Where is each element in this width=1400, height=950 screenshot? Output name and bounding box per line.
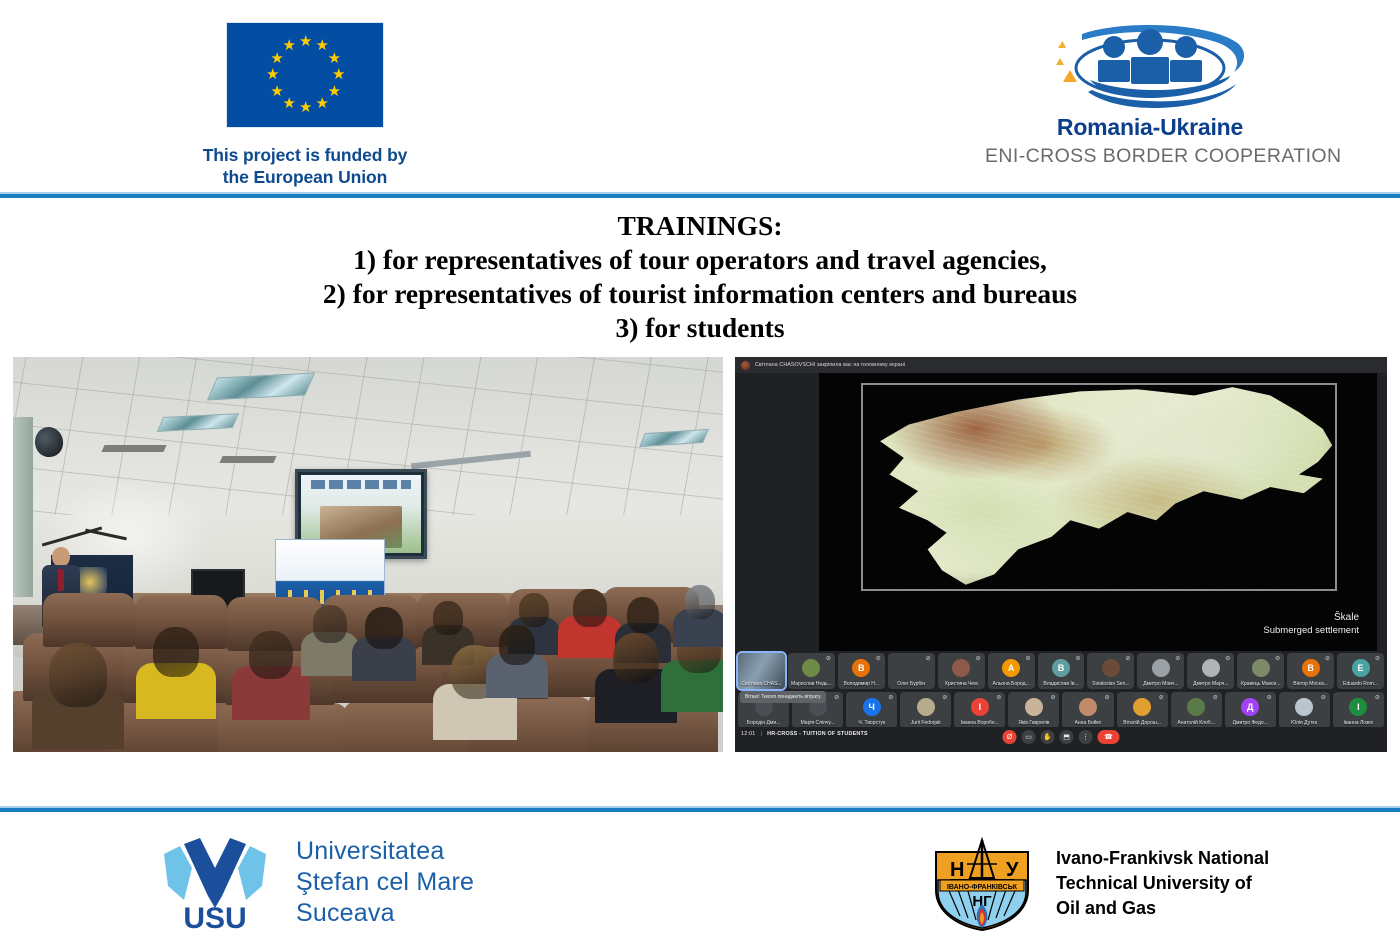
ifntuog-logo: Н У ІВАНО-ФРАНКІВСЬК НГ [930, 834, 1034, 932]
audience-member [499, 625, 561, 709]
eu-funding-block: This project is funded by the European U… [140, 22, 470, 188]
participant-row-2: ⊘Бородін Дми...⊘Марія Сліпчу...Ч⊘Ч. Твор… [738, 692, 1384, 728]
participant-tile[interactable]: І⊘Іванна Лозко [1333, 692, 1384, 728]
camera-icon: ▭ [1025, 733, 1032, 741]
status-separator: | [761, 731, 763, 737]
participant-tile[interactable]: ⊘Юлія Дутка [1279, 692, 1330, 728]
pinned-notice-text: Світлана CHASOVSCHI закріпила вас на гол… [755, 362, 905, 368]
participant-tile[interactable]: ⊘Дмитро Мовч... [1137, 653, 1184, 689]
participant-name: Олег Бурбін [897, 681, 925, 689]
participant-initial-avatar: Ч [863, 698, 881, 716]
media-row: Світлана CHASOVSCHI закріпила вас на гол… [0, 357, 1400, 754]
participant-name: Дмитро Марч... [1193, 681, 1228, 689]
microphone-muted-icon: ⊘ [887, 695, 894, 702]
participant-photo-avatar [1252, 659, 1270, 677]
terrain-caption-subtitle: Submerged settlement [1263, 624, 1359, 637]
participant-tile[interactable]: ⊘Sviatoslav Sen... [1087, 653, 1134, 689]
participant-tile[interactable]: А⊘Альона Бород... [988, 653, 1035, 689]
usu-logo: USU [160, 834, 270, 930]
ifntuog-name-line-3: Oil and Gas [1056, 896, 1269, 921]
slide-title-block: TRAININGS: 1) for representatives of tou… [0, 198, 1400, 351]
audience-member-head [49, 643, 107, 707]
end-call-icon: ☎ [1104, 733, 1113, 741]
microphone-muted-icon: ⊘ [1374, 695, 1381, 702]
microphone-muted-icon: ⊘ [1324, 656, 1331, 663]
participant-tile[interactable]: ⊘Марослав Недь... [788, 653, 835, 689]
audience-member-head [153, 627, 199, 677]
participant-initial-avatar: В [852, 659, 870, 677]
audience-member [685, 585, 723, 657]
microphone-muted-icon: ⊘ [1212, 695, 1219, 702]
participant-photo-avatar [1102, 659, 1120, 677]
participant-name: Володимир Н... [844, 681, 880, 689]
title-line-1: TRAININGS: [0, 209, 1400, 243]
participant-initial-avatar: В [1052, 659, 1070, 677]
partner-logo-ifntuog: Н У ІВАНО-ФРАНКІВСЬК НГ Ivano-Frankivsk … [930, 834, 1269, 932]
participant-tile[interactable]: ⊘Дмитро Марч... [1187, 653, 1234, 689]
participant-tile[interactable]: В⊘Володимир Н... [838, 653, 885, 689]
participant-name: Альона Бород... [992, 681, 1029, 689]
microphone-muted-icon: ⊘ [925, 656, 932, 663]
audience-seating [13, 571, 723, 752]
audience-member-head [249, 631, 293, 679]
lecture-hall-photo [13, 357, 723, 752]
usu-name-line-3: Suceava [296, 898, 474, 929]
programme-logo-block: Romania-Ukraine ENI-CROSS BORDER COOPERA… [985, 20, 1315, 168]
audience-member-head [313, 605, 347, 643]
chat-tooltip: Вітаю! Тихого понадають вітрату [740, 691, 826, 703]
ifntuog-name: Ivano-Frankivsk National Technical Unive… [1056, 846, 1269, 921]
usu-logo-svg: USU [160, 834, 270, 930]
participant-tile[interactable]: E⊘Eduardo Rom... [1337, 653, 1384, 689]
raise-hand-icon: ✋ [1043, 733, 1052, 741]
meet-control-bar[interactable]: Ø▭✋⬒⋮☎ [1003, 730, 1120, 744]
participant-tile[interactable]: ⊘Христина Чем [938, 653, 985, 689]
presenter-head [52, 547, 70, 567]
participant-photo-avatar [1152, 659, 1170, 677]
participant-initial-avatar: А [1002, 659, 1020, 677]
microphone-muted-icon: ⊘ [1158, 695, 1165, 702]
participant-name: Віктор Моска... [1293, 681, 1328, 689]
participant-tile[interactable]: ⊘Jurii Fedorjak [900, 692, 951, 728]
title-line-4: 3) for students [0, 311, 1400, 345]
end-call-button[interactable]: ☎ [1098, 730, 1120, 744]
participant-initial-avatar: В [1302, 659, 1320, 677]
microphone-muted-icon: ⊘ [1025, 656, 1032, 663]
participant-photo-avatar [1295, 698, 1313, 716]
participant-name: Eduardo Rom... [1343, 681, 1378, 689]
audience-member-head [519, 593, 549, 627]
participant-photo-avatar [1079, 698, 1097, 716]
microphone-muted-icon: ⊘ [1274, 656, 1281, 663]
participant-row-1: Світлана CHAS...⊘Марослав Недь...В⊘Волод… [738, 653, 1384, 689]
participant-photo-avatar [802, 659, 820, 677]
audience-member-head [613, 633, 659, 683]
google-meet-screenshot: Світлана CHASOVSCHI закріпила вас на гол… [735, 357, 1387, 752]
microphone-muted-icon: ⊘ [1266, 695, 1273, 702]
usu-name-line-2: Ştefan cel Mare [296, 867, 474, 898]
participant-name: Кравець Макси... [1241, 681, 1280, 689]
meet-stage: Škale Submerged settlement [735, 373, 1387, 651]
3d-terrain-relief-model [861, 383, 1337, 591]
microphone-muted-icon: ⊘ [1049, 695, 1056, 702]
usu-name: Universitatea Ştefan cel Mare Suceava [296, 836, 474, 929]
participant-photo-avatar [1202, 659, 1220, 677]
participant-tile[interactable]: В⊘Владислав Ів... [1038, 653, 1085, 689]
terrain-caption: Škale Submerged settlement [1263, 611, 1359, 637]
microphone-muted-icon: ⊘ [875, 656, 882, 663]
eu-funding-caption: This project is funded by the European U… [140, 144, 470, 188]
participant-tile[interactable]: ⊘Олег Бурбін [888, 653, 935, 689]
present-screen-icon: ⬒ [1063, 733, 1070, 741]
usu-acronym: USU [183, 902, 246, 930]
participant-tile[interactable]: Ч⊘Ч. Творстук [846, 692, 897, 728]
meeting-status: 12:01 | HR-CROSS - TUITION OF STUDENTS [741, 731, 868, 737]
audience-member-head [573, 589, 607, 627]
microphone-muted-icon: ⊘ [975, 656, 982, 663]
participant-tile[interactable]: Д⊘Дмитро Федо... [1225, 692, 1276, 728]
microphone-muted-icon: ⊘ [825, 656, 832, 663]
participant-initial-avatar: І [971, 698, 989, 716]
ceiling-vent [219, 456, 276, 463]
audience-member [153, 627, 233, 733]
eu-caption-line-2: the European Union [140, 166, 470, 188]
terrain-caption-title: Škale [1263, 611, 1359, 624]
audience-member [365, 607, 429, 693]
meeting-time: 12:01 [741, 731, 756, 737]
microphone-muted-icon: ⊘ [1074, 656, 1081, 663]
participant-tile[interactable]: ⊘Анна Бойко [1062, 692, 1113, 728]
participant-tile[interactable]: В⊘Віктор Моска... [1287, 653, 1334, 689]
ifntuog-name-line-2: Technical University of [1056, 871, 1269, 896]
title-line-2: 1) for representatives of tour operators… [0, 243, 1400, 277]
more-options-button[interactable]: ⋮ [1079, 730, 1093, 744]
title-line-3: 2) for representatives of tourist inform… [0, 277, 1400, 311]
romania-ukraine-cbc-emblem [1030, 20, 1270, 112]
microphone-muted-icon: ⊘ [995, 695, 1002, 702]
audience-member-head [365, 607, 403, 649]
cbc-emblem-svg [1030, 20, 1270, 112]
microphone-muted-icon: ⊘ [941, 695, 948, 702]
raise-hand-button[interactable]: ✋ [1041, 730, 1055, 744]
ifntuog-name-line-1: Ivano-Frankivsk National [1056, 846, 1269, 871]
participant-name: Владислав Ів... [1043, 681, 1078, 689]
participant-photo-avatar [952, 659, 970, 677]
participant-photo-avatar [917, 698, 935, 716]
page-footer: USU Universitatea Ştefan cel Mare Suceav… [0, 812, 1400, 950]
host-avatar [741, 361, 750, 370]
partner-logo-usu: USU Universitatea Ştefan cel Mare Suceav… [160, 834, 474, 930]
participant-tile[interactable]: Світлана CHAS... [738, 653, 785, 689]
participant-tile[interactable]: ⊘Яків Гаврилів [1008, 692, 1059, 728]
crest-letter-n: Н [950, 859, 964, 881]
participant-name: Sviatoslav Sen... [1092, 681, 1129, 689]
participant-name: Марослав Недь... [791, 681, 832, 689]
crest-city-name: ІВАНО-ФРАНКІВСЬК [947, 884, 1018, 891]
page-header: This project is funded by the European U… [0, 0, 1400, 192]
shared-screen-area: Škale Submerged settlement [819, 373, 1377, 651]
microphone-muted-icon: ⊘ [1224, 656, 1231, 663]
participant-initial-avatar: І [1349, 698, 1367, 716]
microphone-muted-icon: ⊘ [1374, 656, 1381, 663]
ceiling-vent [101, 445, 166, 452]
european-union-flag [226, 22, 384, 128]
programme-subtitle: ENI-CROSS BORDER COOPERATION [985, 145, 1315, 168]
participant-name: Дмитро Мовч... [1143, 681, 1178, 689]
participant-photo-avatar [1025, 698, 1043, 716]
audience-member-head [499, 625, 535, 665]
ifntuog-logo-svg: Н У ІВАНО-ФРАНКІВСЬК НГ [930, 834, 1034, 932]
crest-letter-u: У [1006, 859, 1019, 881]
audience-member-head [685, 585, 715, 619]
microphone-muted-icon: ⊘ [1320, 695, 1327, 702]
microphone-muted-icon: ⊘ [833, 695, 840, 702]
microphone-off-button[interactable]: Ø [1003, 730, 1017, 744]
microphone-muted-icon: ⊘ [1124, 656, 1131, 663]
participant-photo-avatar [1133, 698, 1151, 716]
eu-caption-line-1: This project is funded by [140, 144, 470, 166]
participant-photo-avatar [1187, 698, 1205, 716]
participant-initial-avatar: Д [1241, 698, 1259, 716]
participant-tile[interactable]: І⊘Іванна Воробе... [954, 692, 1005, 728]
meeting-title: HR-CROSS - TUITION OF STUDENTS [767, 731, 868, 737]
door-frame [13, 417, 33, 597]
meet-bottom-bar: 12:01 | HR-CROSS - TUITION OF STUDENTS Ø… [735, 727, 1387, 752]
participant-initial-avatar: E [1352, 659, 1370, 677]
meet-pinned-notice-bar: Світлана CHASOVSCHI закріпила вас на гол… [735, 357, 1387, 373]
present-screen-button[interactable]: ⬒ [1060, 730, 1074, 744]
auditorium-seat [43, 593, 135, 647]
camera-button[interactable]: ▭ [1022, 730, 1036, 744]
slide-heading-lines [311, 480, 412, 489]
audience-member-head [627, 597, 659, 633]
microphone-muted-icon: ⊘ [1174, 656, 1181, 663]
participant-tile-strip: Світлана CHAS...⊘Марослав Недь...В⊘Волод… [735, 651, 1387, 727]
programme-title: Romania-Ukraine [985, 114, 1315, 141]
participant-name: Христина Чем [945, 681, 978, 689]
audience-member-head [433, 601, 463, 635]
audience-member [49, 643, 141, 752]
more-options-icon: ⋮ [1082, 733, 1089, 741]
participant-tile[interactable]: ⊘Кравець Макси... [1237, 653, 1284, 689]
participant-tile[interactable]: ⊘Віталій Дорош... [1117, 692, 1168, 728]
participant-tile[interactable]: ⊘Анатолій Клоб... [1171, 692, 1222, 728]
terrain-edge-highlight [861, 383, 1337, 591]
microphone-off-icon: Ø [1007, 734, 1012, 741]
participant-name: Світлана CHAS... [741, 681, 781, 689]
usu-name-line-1: Universitatea [296, 836, 474, 867]
participant-photo-avatar [902, 659, 920, 677]
microphone-muted-icon: ⊘ [1104, 695, 1111, 702]
